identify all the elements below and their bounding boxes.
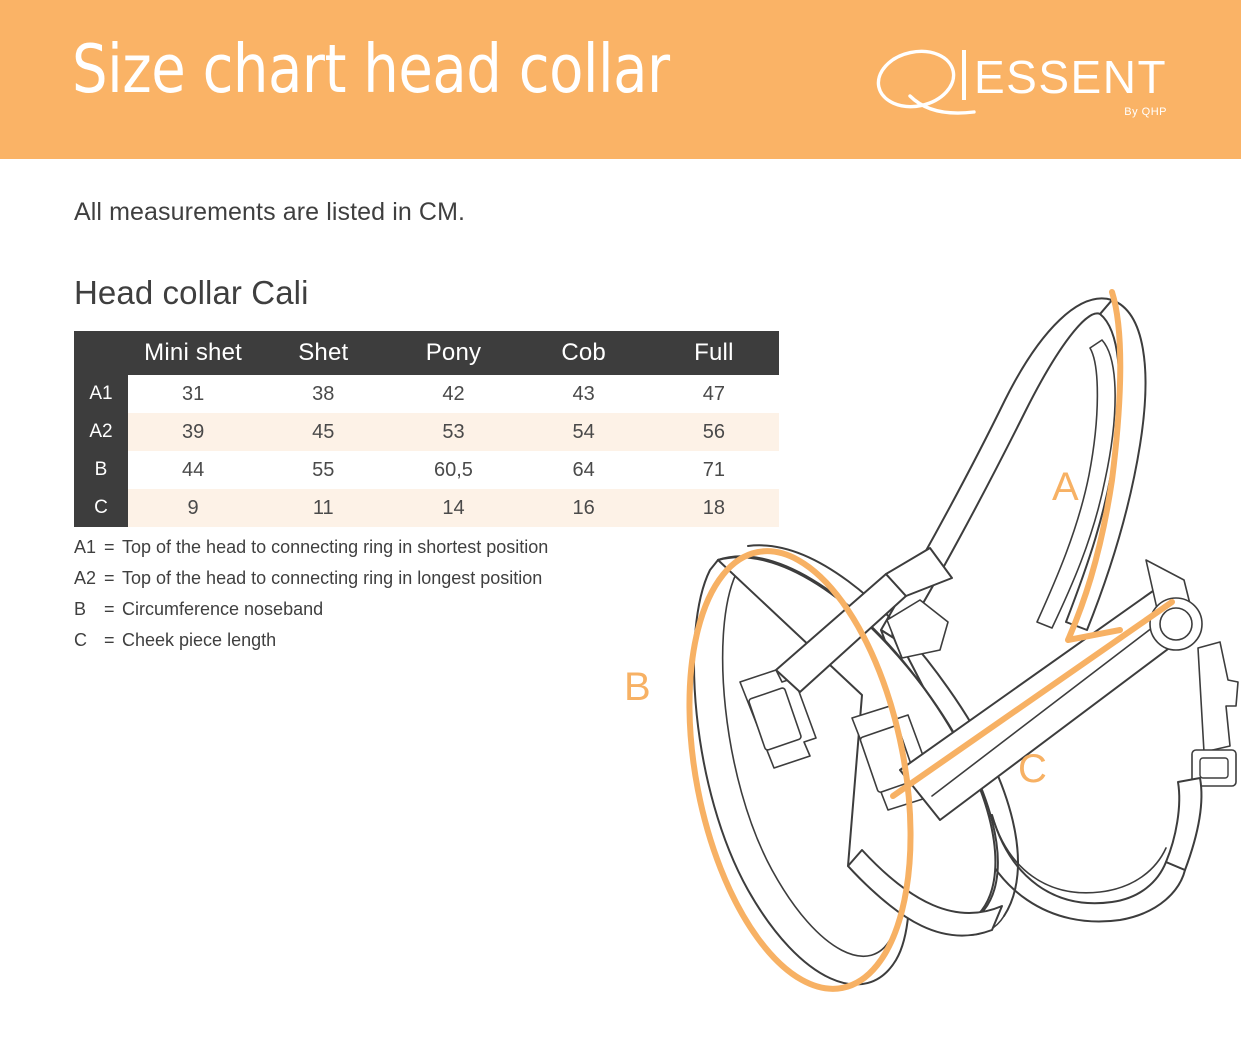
product-title: Head collar Cali <box>74 274 309 312</box>
logo-artwork: ESSENTIALS <box>870 46 1170 134</box>
table-cell: 11 <box>258 489 388 527</box>
table-cell: 38 <box>258 375 388 413</box>
table-cell: 31 <box>128 375 258 413</box>
row-label: A2 <box>74 413 128 451</box>
legend-key: C <box>74 630 104 651</box>
legend-equals: = <box>104 537 122 558</box>
measurement-label-a: A <box>1052 465 1079 509</box>
row-label: C <box>74 489 128 527</box>
table-cell: 9 <box>128 489 258 527</box>
measurement-label-b: B <box>624 665 651 709</box>
legend-key: A2 <box>74 568 104 589</box>
logo-byline: By QHP <box>1124 106 1167 118</box>
logo-divider <box>962 50 966 100</box>
table-cell: 60,5 <box>388 451 518 489</box>
halter-illustration: A B C <box>600 230 1241 1030</box>
table-cell: 42 <box>388 375 518 413</box>
logo-q-icon <box>873 46 974 113</box>
table-cell: 55 <box>258 451 388 489</box>
legend-equals: = <box>104 599 122 620</box>
table-cell: 14 <box>388 489 518 527</box>
legend-equals: = <box>104 630 122 651</box>
measurement-note: All measurements are listed in CM. <box>74 198 465 227</box>
table-cell: 45 <box>258 413 388 451</box>
page-title: Size chart head collar <box>72 36 670 103</box>
table-cell: 53 <box>388 413 518 451</box>
logo-wordmark: ESSENTIALS <box>974 51 1170 103</box>
legend-description: Cheek piece length <box>122 630 276 651</box>
column-header: Mini shet <box>128 331 258 375</box>
chin-loop <box>972 815 1185 922</box>
column-header: Pony <box>388 331 518 375</box>
halter-diagram: A B C <box>600 230 1241 1030</box>
jaw-strap <box>1166 778 1201 870</box>
brand-logo: ESSENTIALS By QHP <box>870 46 1170 134</box>
legend-description: Circumference noseband <box>122 599 323 620</box>
header-band: Size chart head collar ESSENTIALS By QHP <box>0 0 1241 159</box>
connecting-ring-hardware <box>1146 560 1238 786</box>
legend-description: Top of the head to connecting ring in sh… <box>122 537 548 558</box>
legend-key: A1 <box>74 537 104 558</box>
column-header: Shet <box>258 331 388 375</box>
legend-description: Top of the head to connecting ring in lo… <box>122 568 542 589</box>
row-label-header <box>74 331 128 375</box>
table-cell: 39 <box>128 413 258 451</box>
legend-key: B <box>74 599 104 620</box>
legend-equals: = <box>104 568 122 589</box>
table-cell: 44 <box>128 451 258 489</box>
row-label: A1 <box>74 375 128 413</box>
measurement-label-c: C <box>1018 747 1047 791</box>
row-label: B <box>74 451 128 489</box>
